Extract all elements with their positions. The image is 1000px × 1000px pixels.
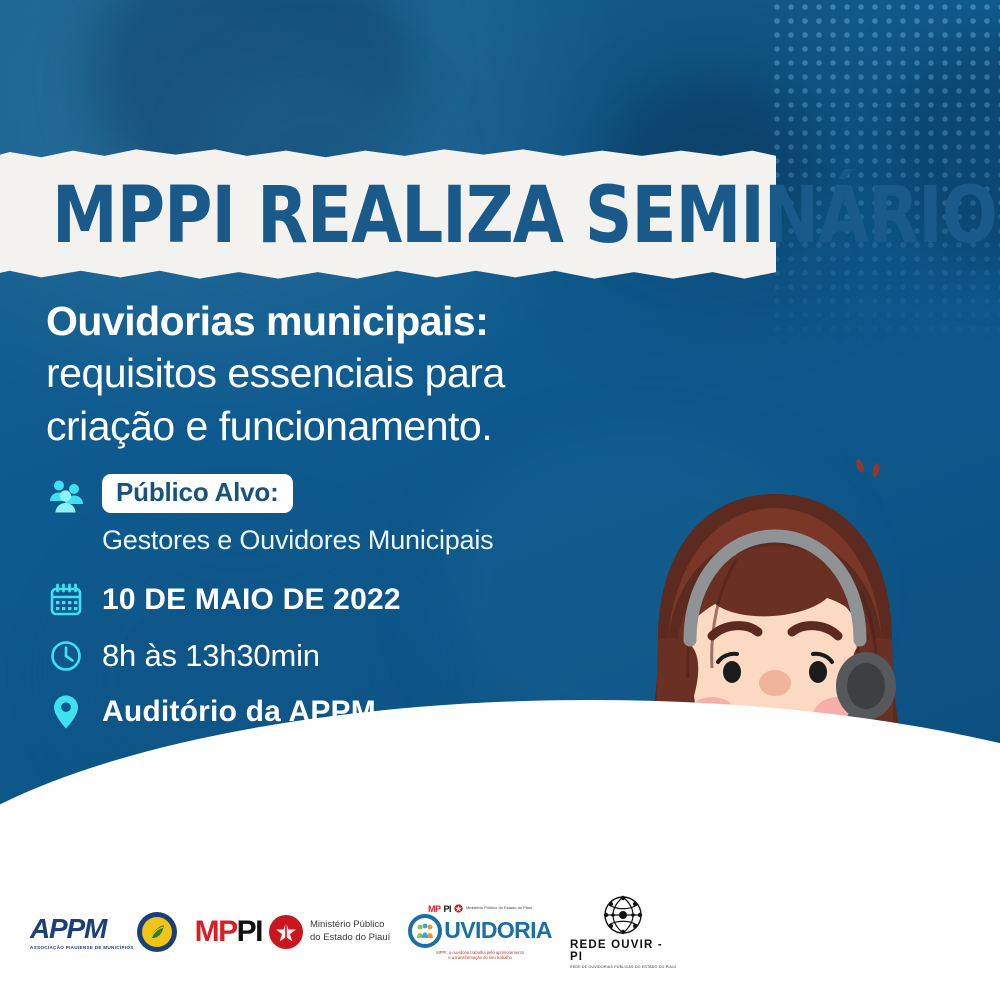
logo-rede-ouvir-subtitle: REDE DE OUVIDORIAS PÚBLICAS DO ESTADO DO…	[570, 965, 676, 969]
people-group-icon	[44, 474, 88, 518]
logo-appm-seal-inner	[142, 917, 172, 947]
location-pin-icon	[44, 690, 88, 734]
logo-ouvidoria-top: MPPI Ministério Público do Estado do Pia…	[428, 904, 532, 914]
logo-rede-ouvir: REDE OUVIR - PI REDE DE OUVIDORIAS PÚBLI…	[570, 895, 676, 969]
logo-ouvidoria-top-mp: MP	[428, 904, 441, 914]
logo-ouvidoria-top-caption: Ministério Público do Estado do Piauí	[466, 906, 532, 911]
audience-label: Público Alvo:	[102, 474, 293, 513]
subtitle-block: Ouvidorias municipais: requisitos essenc…	[46, 296, 666, 452]
logo-appm-subtitle: ASSOCIAÇÃO PIAUIENSE DE MUNICÍPIOS	[30, 945, 134, 950]
logo-mppi-text: MPPI	[195, 917, 262, 947]
page-title: MPPI REALIZA SEMINÁRIO	[52, 168, 729, 264]
logo-appm-row: APPM ASSOCIAÇÃO PIAUIENSE DE MUNICÍPIOS	[30, 912, 177, 952]
event-time: 8h às 13h30min	[102, 638, 320, 674]
logo-appm: APPM ASSOCIAÇÃO PIAUIENSE DE MUNICÍPIOS	[30, 912, 177, 952]
calendar-icon	[44, 578, 88, 622]
logo-mppi-seal-icon	[269, 915, 303, 949]
footer-logos: APPM ASSOCIAÇÃO PIAUIENSE DE MUNICÍPIOS …	[0, 892, 630, 972]
event-date: 10 DE MAIO DE 2022	[102, 583, 401, 617]
logo-ouvidoria-top-pi: PI	[443, 904, 451, 914]
audience-label-wrap: Público Alvo:	[102, 474, 293, 513]
logo-ouvidoria-tagline-line2: e a transformação do seu trabalho	[436, 955, 524, 960]
logo-appm-seal-icon	[137, 912, 177, 952]
network-sphere-icon	[600, 895, 646, 937]
logo-appm-text: APPM	[30, 915, 134, 943]
logo-ouvidoria-people-icon	[408, 914, 442, 948]
logo-mppi-pi: PI	[237, 915, 262, 948]
logo-ouvidoria-main: UVIDORIA	[408, 914, 552, 948]
logo-ouvidoria-text: UVIDORIA	[444, 919, 552, 942]
logo-mppi-caption-line1: Ministério Público	[310, 919, 390, 932]
clock-icon	[44, 634, 88, 678]
logo-mppi: MPPI Ministério Público do Estado do Pia…	[195, 915, 391, 949]
logo-ouvidoria-seal-icon	[454, 904, 463, 913]
logo-mppi-caption: Ministério Público do Estado do Piauí	[310, 919, 390, 944]
subtitle-strong: Ouvidorias municipais:	[46, 296, 666, 347]
logo-mppi-mp: MP	[195, 915, 237, 948]
subtitle-line-2: requisitos essenciais para	[46, 347, 666, 399]
logo-ouvidoria-tagline: MPPI: a ouvidoria trabalha pelo aprimora…	[436, 950, 524, 961]
logo-rede-ouvir-text: REDE OUVIR - PI	[570, 939, 676, 963]
logo-ouvidoria: MPPI Ministério Público do Estado do Pia…	[408, 904, 552, 961]
seminar-poster: MPPI REALIZA SEMINÁRIO Ouvidorias munici…	[0, 0, 1000, 1000]
logo-mppi-caption-line2: do Estado do Piauí	[310, 932, 390, 945]
